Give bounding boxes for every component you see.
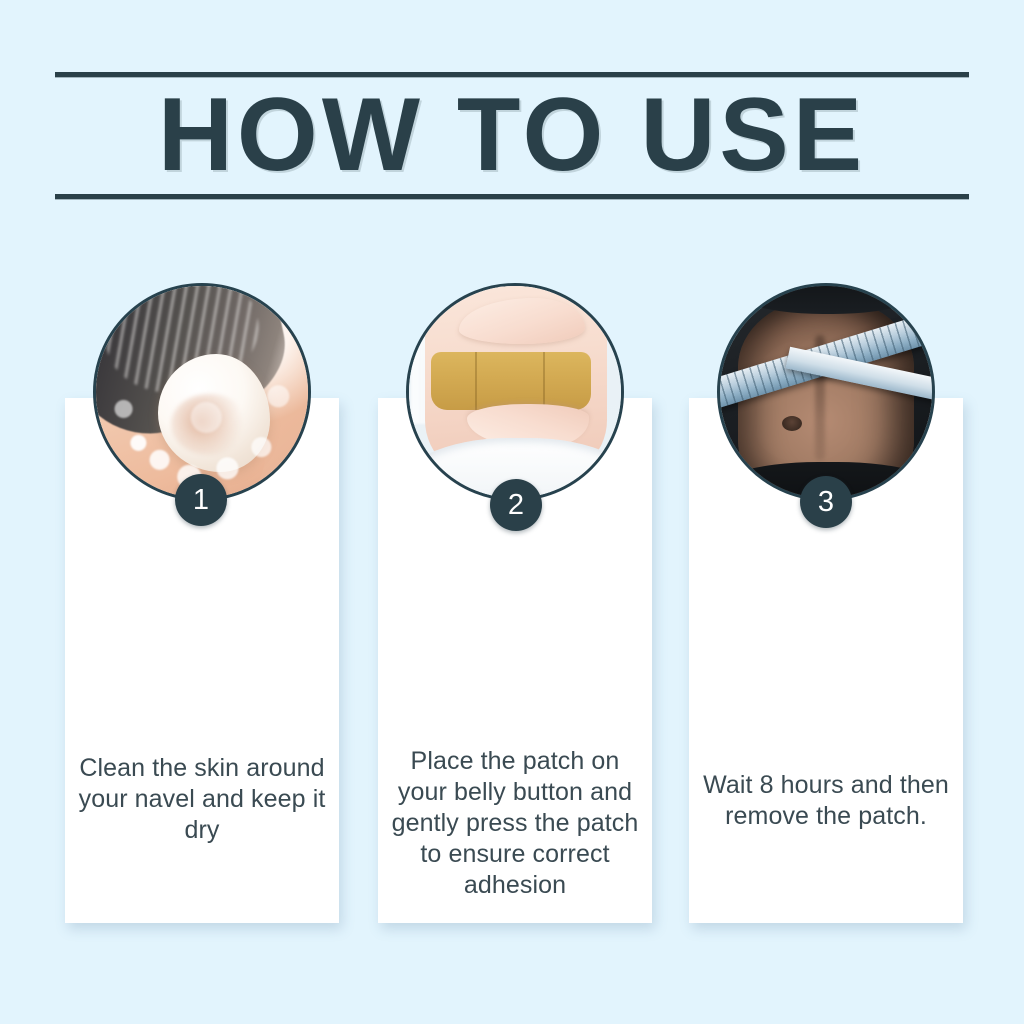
step-2-description: Place the patch on your belly button and… (384, 746, 646, 901)
belly-patch-applied-photo (406, 283, 624, 501)
step-badge-1: 1 (175, 474, 227, 526)
washing-skin-with-loofah-photo (93, 283, 311, 501)
photo-2-scene (409, 286, 621, 498)
step-card-1: Clean the skin around your navel and kee… (65, 283, 339, 923)
step-1-description: Clean the skin around your navel and kee… (71, 753, 333, 846)
step-card-2: Place the patch on your belly button and… (378, 283, 652, 923)
photo-3-scene (720, 286, 932, 498)
step-badge-3: 3 (800, 476, 852, 528)
steps-container: Clean the skin around your navel and kee… (0, 0, 1024, 1024)
photo-1-foam-bubbles (96, 286, 308, 498)
photo-3-navel (782, 416, 802, 431)
photo-1-scene (96, 286, 308, 498)
waist-measuring-tape-photo (717, 283, 935, 501)
step-card-3: Wait 8 hours and then remove the patch. … (689, 283, 963, 923)
step-3-description: Wait 8 hours and then remove the patch. (695, 770, 957, 832)
photo-2-slimming-patch (431, 352, 591, 410)
step-badge-2: 2 (490, 479, 542, 531)
